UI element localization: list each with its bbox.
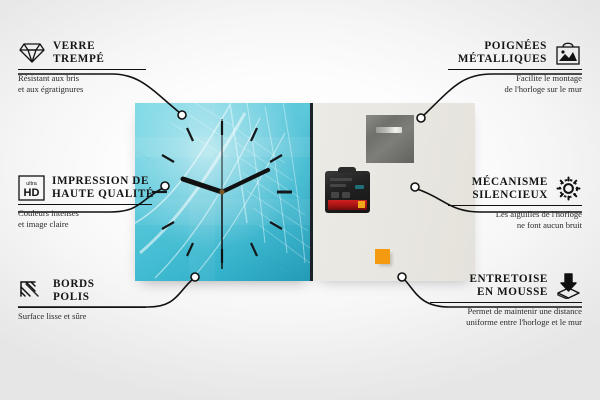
mechanism-switch <box>331 192 339 198</box>
feature-title-line2: SILENCIEUX <box>472 189 548 202</box>
feature-verre-trempe: VERRE TREMPÉ Résistant aux bris et aux é… <box>18 40 154 94</box>
hanger-slot <box>376 127 402 133</box>
feature-poignees-metalliques: POIGNÉES MÉTALLIQUES Facilite le montage… <box>440 40 582 94</box>
feature-title-line2: TREMPÉ <box>53 53 104 66</box>
feature-header: POIGNÉES MÉTALLIQUES <box>440 40 582 66</box>
mechanism-vent <box>330 184 346 187</box>
feature-header: ENTRETOISE EN MOUSSE <box>422 272 582 299</box>
mechanism-tab <box>338 167 356 173</box>
feature-impression-haute-qualite: ultra HD IMPRESSION DE HAUTE QUALITÉ Cou… <box>18 175 160 229</box>
feature-rule <box>18 204 152 205</box>
feature-description: Surface lisse et sûre <box>18 311 154 321</box>
feature-title-line1: POIGNÉES <box>458 40 547 53</box>
feature-title-line2: EN MOUSSE <box>469 286 548 299</box>
feature-title-line2: HAUTE QUALITÉ <box>52 188 154 201</box>
feature-description: Permet de maintenir une distance uniform… <box>422 306 582 327</box>
feature-rule <box>448 205 582 206</box>
clock-front-face <box>135 103 313 281</box>
metal-hanger-plate <box>366 115 414 163</box>
feature-rule <box>430 302 582 303</box>
product-image <box>135 103 475 281</box>
feature-rule <box>448 69 582 70</box>
clock-mechanism <box>325 171 370 213</box>
mechanism-vent <box>330 178 352 181</box>
ultra-hd-icon-bottom-label: HD <box>24 187 40 199</box>
feature-title-line2: POLIS <box>53 291 95 304</box>
wall-mount-frame-icon <box>554 41 582 66</box>
mechanism-label <box>355 185 364 189</box>
foam-spacer <box>375 249 390 264</box>
feature-description: Résistant aux bris et aux égratignures <box>18 73 154 94</box>
infographic-canvas: VERRE TREMPÉ Résistant aux bris et aux é… <box>0 0 600 400</box>
feature-title-line1: BORDS <box>53 278 95 291</box>
foam-spacer-arrow-icon <box>555 272 582 299</box>
battery-plus-terminal <box>358 201 365 208</box>
polished-edges-icon <box>18 279 46 303</box>
feature-title-line1: IMPRESSION DE <box>52 175 154 188</box>
feature-title-line1: MÉCANISME <box>472 176 548 189</box>
feature-mecanisme-silencieux: MÉCANISME SILENCIEUX Les aiguilles de l'… <box>440 175 582 230</box>
feature-title-line2: MÉTALLIQUES <box>458 53 547 66</box>
feature-header: ultra HD IMPRESSION DE HAUTE QUALITÉ <box>18 175 160 201</box>
mechanism-switch <box>342 192 350 198</box>
feature-rule <box>18 69 146 70</box>
feather-pattern <box>135 103 310 281</box>
feature-description: Facilite le montage de l'horloge sur le … <box>440 73 582 94</box>
ultra-hd-icon: ultra HD <box>18 175 45 201</box>
feature-description: Les aiguilles de l'horloge ne font aucun… <box>440 209 582 230</box>
gear-icon <box>555 175 582 202</box>
feature-rule <box>18 307 146 308</box>
battery <box>328 200 367 210</box>
feature-bords-polis: BORDS POLIS Surface lisse et sûre <box>18 278 154 322</box>
feature-entretoise-en-mousse: ENTRETOISE EN MOUSSE Permet de maintenir… <box>422 272 582 327</box>
feature-description: Couleurs intenses et image claire <box>18 208 160 229</box>
feature-header: BORDS POLIS <box>18 278 154 304</box>
feature-header: VERRE TREMPÉ <box>18 40 154 66</box>
feature-header: MÉCANISME SILENCIEUX <box>440 175 582 202</box>
feature-title-line1: VERRE <box>53 40 104 53</box>
feature-title-line1: ENTRETOISE <box>469 273 548 286</box>
diamond-icon <box>18 41 46 65</box>
